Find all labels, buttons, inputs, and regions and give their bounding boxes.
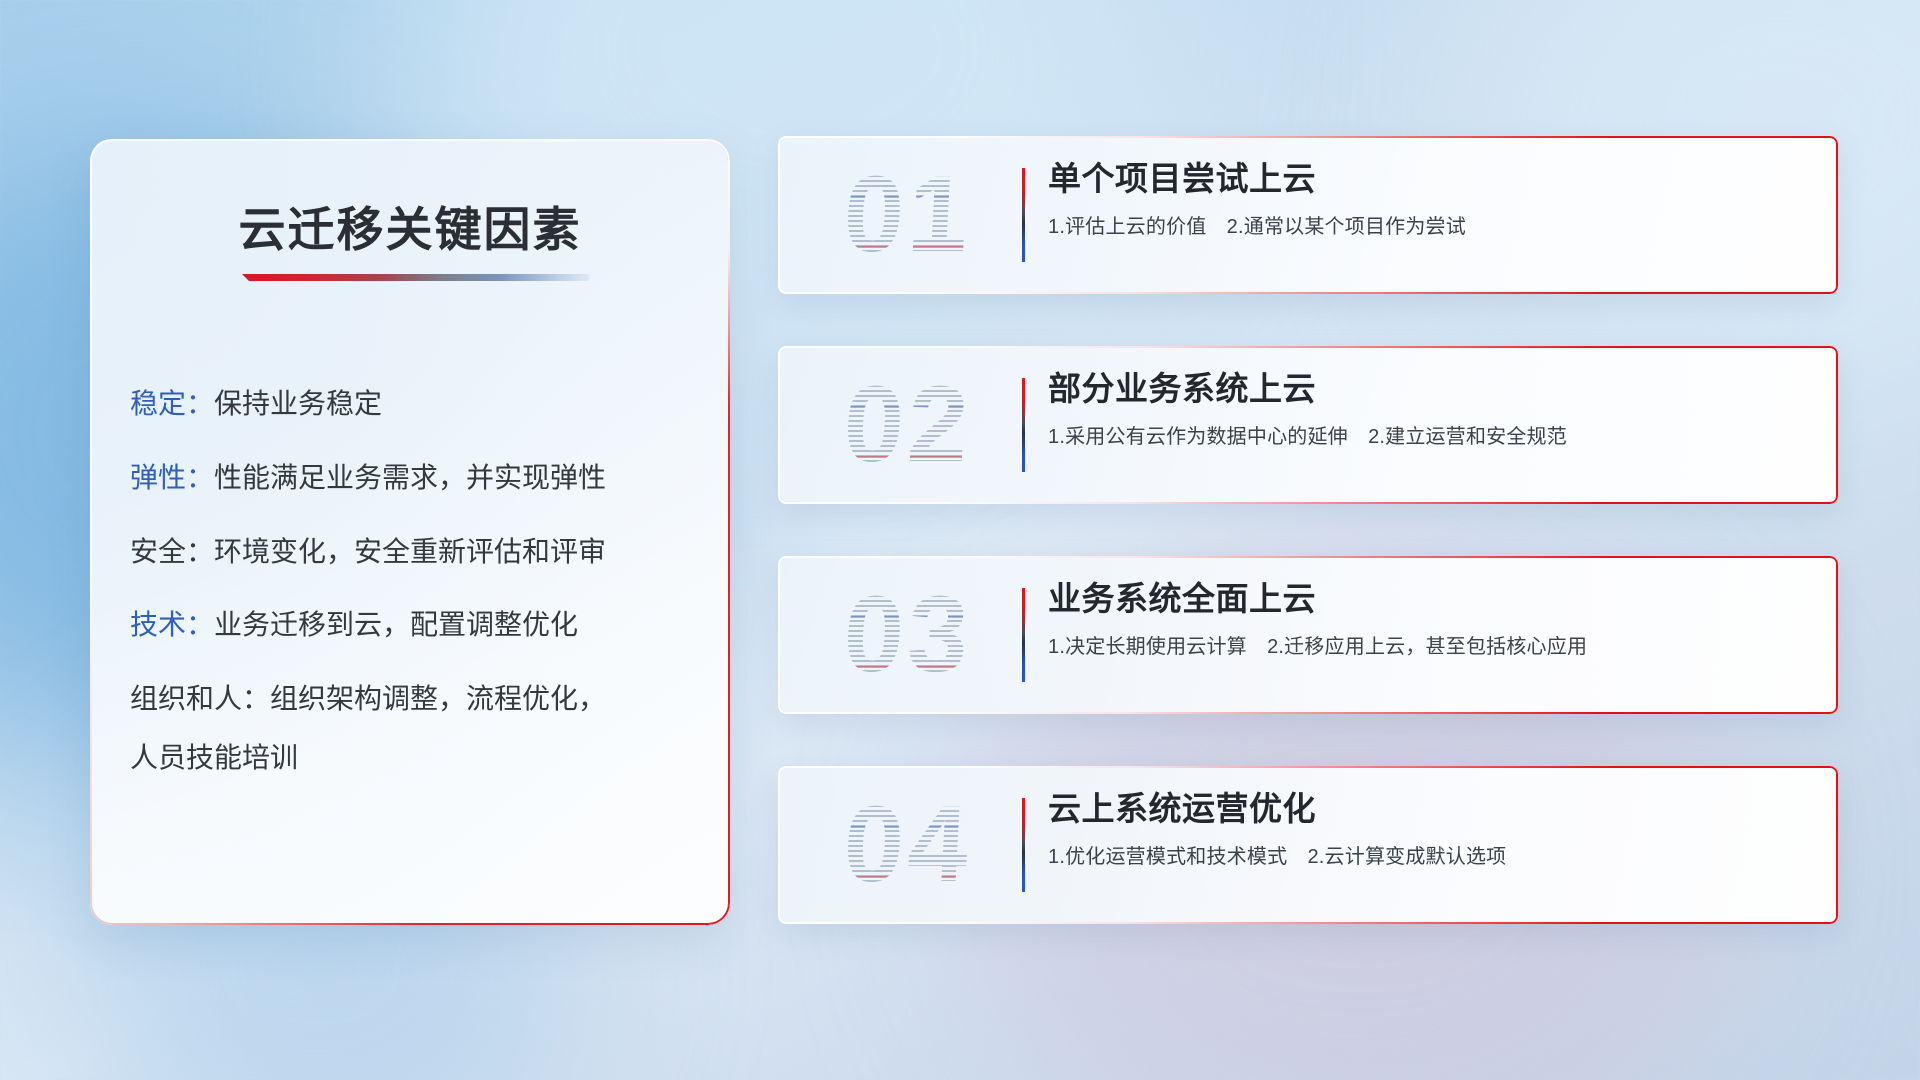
card-number-accent: 04 <box>805 780 1012 908</box>
list-item: 技术：业务迁移到云，配置调整优化 <box>130 606 702 644</box>
card-number-accent: 01 <box>805 150 1012 278</box>
card-description: 1.评估上云的价值 2.通常以某个项目作为尝试 <box>1048 210 1810 239</box>
card-body: 业务系统全面上云 1.决定长期使用云计算 2.迁移应用上云，甚至包括核心应用 <box>1048 578 1810 659</box>
stage-card-01[interactable]: 01 01 单个项目尝试上云 1.评估上云的价值 2.通常以某个项目作为尝试 <box>778 136 1838 294</box>
stage-card-03[interactable]: 03 03 业务系统全面上云 1.决定长期使用云计算 2.迁移应用上云，甚至包括… <box>778 556 1838 714</box>
card-title: 云上系统运营优化 <box>1048 788 1810 829</box>
card-title: 部分业务系统上云 <box>1048 368 1810 409</box>
factor-key: 安全： <box>130 536 214 567</box>
key-factors-panel: 云迁移关键因素 稳定：保持业务稳定 弹性：性能满足业务需求，并实现弹性 安全：环… <box>90 139 730 925</box>
factor-key: 技术： <box>130 609 214 640</box>
card-body: 云上系统运营优化 1.优化运营模式和技术模式 2.云计算变成默认选项 <box>1048 788 1810 869</box>
title-underline-rule <box>242 274 590 281</box>
card-divider-line <box>1022 798 1025 892</box>
card-description: 1.优化运营模式和技术模式 2.云计算变成默认选项 <box>1048 840 1810 869</box>
card-number-accent: 03 <box>805 570 1012 698</box>
factor-list: 稳定：保持业务稳定 弹性：性能满足业务需求，并实现弹性 安全：环境变化，安全重新… <box>130 385 702 776</box>
card-body: 部分业务系统上云 1.采用公有云作为数据中心的延伸 2.建立运营和安全规范 <box>1048 368 1810 449</box>
factor-value: 环境变化，安全重新评估和评审 <box>214 536 606 567</box>
list-item: 安全：环境变化，安全重新评估和评审 <box>130 533 702 571</box>
list-item: 稳定：保持业务稳定 <box>130 385 702 423</box>
slide-stage: 云迁移关键因素 稳定：保持业务稳定 弹性：性能满足业务需求，并实现弹性 安全：环… <box>0 0 1920 1080</box>
factor-value: 性能满足业务需求，并实现弹性 <box>214 462 606 493</box>
card-description: 1.决定长期使用云计算 2.迁移应用上云，甚至包括核心应用 <box>1048 630 1810 659</box>
page-title: 云迁移关键因素 <box>90 191 730 260</box>
factor-value-continuation: 人员技能培训 <box>130 736 702 776</box>
list-item: 弹性：性能满足业务需求，并实现弹性 <box>130 459 702 497</box>
stage-card-04[interactable]: 04 04 云上系统运营优化 1.优化运营模式和技术模式 2.云计算变成默认选项 <box>778 766 1838 924</box>
card-number-accent: 02 <box>805 360 1012 488</box>
factor-key: 稳定： <box>130 388 214 419</box>
factor-value: 组织架构调整，流程优化， <box>270 683 606 714</box>
card-divider-line <box>1022 168 1025 262</box>
card-divider-line <box>1022 378 1025 472</box>
factor-key: 弹性： <box>130 462 214 493</box>
card-title: 单个项目尝试上云 <box>1048 158 1810 199</box>
list-item: 组织和人：组织架构调整，流程优化， <box>130 680 702 718</box>
card-body: 单个项目尝试上云 1.评估上云的价值 2.通常以某个项目作为尝试 <box>1048 158 1810 239</box>
card-description: 1.采用公有云作为数据中心的延伸 2.建立运营和安全规范 <box>1048 420 1810 449</box>
card-divider-line <box>1022 588 1025 682</box>
card-title: 业务系统全面上云 <box>1048 578 1810 619</box>
factor-value: 保持业务稳定 <box>214 388 382 419</box>
factor-value: 业务迁移到云，配置调整优化 <box>214 609 578 640</box>
stage-card-02[interactable]: 02 02 部分业务系统上云 1.采用公有云作为数据中心的延伸 2.建立运营和安… <box>778 346 1838 504</box>
stage-cards-list: 01 01 单个项目尝试上云 1.评估上云的价值 2.通常以某个项目作为尝试 0… <box>778 136 1838 924</box>
factor-key: 组织和人： <box>130 683 270 714</box>
